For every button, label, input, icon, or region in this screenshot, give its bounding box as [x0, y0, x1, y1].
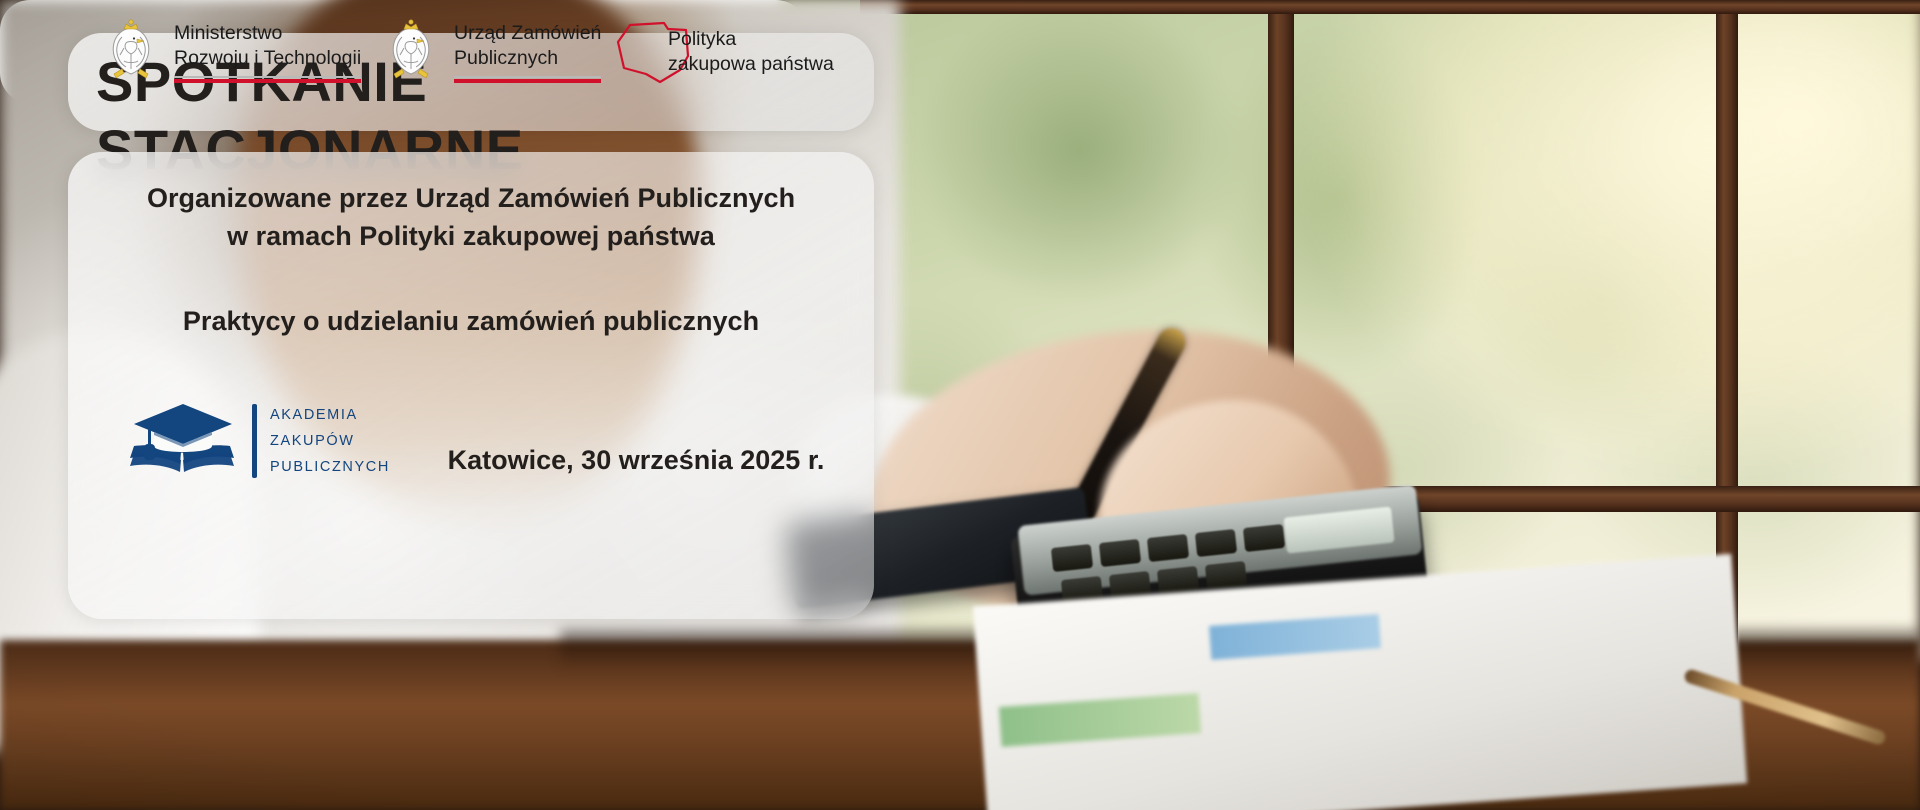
- footer-logo-bar: Ministerstwo Rozwoju i Technologii: [0, 0, 806, 103]
- uzp-wordmark: Urząd Zamówień Publicznych: [454, 21, 601, 83]
- ministry-rule: [174, 76, 361, 83]
- logo-polityka-zakupowa-panstwa: Polityka zakupowa państwa: [608, 0, 834, 103]
- uzp-line-1: Urząd Zamówień: [454, 21, 601, 46]
- akademia-logo-line-1: AKADEMIA: [270, 402, 390, 428]
- polish-eagle-emblem-icon: [380, 17, 442, 87]
- ministry-wordmark: Ministerstwo Rozwoju i Technologii: [174, 21, 361, 83]
- organizer-line-1: Organizowane przez Urząd Zamówień Public…: [68, 180, 874, 216]
- ministry-line-1: Ministerstwo: [174, 21, 361, 46]
- akademia-zakupow-publicznych-logo: AKADEMIA ZAKUPÓW PUBLICZNYCH: [128, 398, 384, 484]
- graduation-cap-book-icon: [128, 402, 238, 480]
- organizer-line-2: w ramach Polityki zakupowej państwa: [68, 218, 874, 254]
- uzp-line-2: Publicznych: [454, 46, 601, 71]
- ministry-line-2: Rozwoju i Technologii: [174, 46, 361, 71]
- akademia-logo-line-3: PUBLICZNYCH: [270, 454, 390, 480]
- pzp-line-1: Polityka: [668, 27, 834, 52]
- akademia-logo-line-2: ZAKUPÓW: [270, 428, 390, 454]
- polish-eagle-emblem-icon: [100, 17, 162, 87]
- place-and-date: Katowice, 30 września 2025 r.: [398, 442, 874, 478]
- event-subject: Praktycy o udzielaniu zamówień publiczny…: [68, 303, 874, 339]
- logo-ministerstwo-rozwoju-i-technologii: Ministerstwo Rozwoju i Technologii: [100, 0, 361, 103]
- logo-urzad-zamowien-publicznych: Urząd Zamówień Publicznych: [380, 0, 601, 103]
- pzp-wordmark: Polityka zakupowa państwa: [668, 27, 834, 77]
- akademia-logo-wordmark: AKADEMIA ZAKUPÓW PUBLICZNYCH: [270, 402, 390, 480]
- logo-divider: [252, 404, 257, 478]
- pzp-line-2: zakupowa państwa: [668, 52, 834, 77]
- uzp-rule: [454, 76, 601, 83]
